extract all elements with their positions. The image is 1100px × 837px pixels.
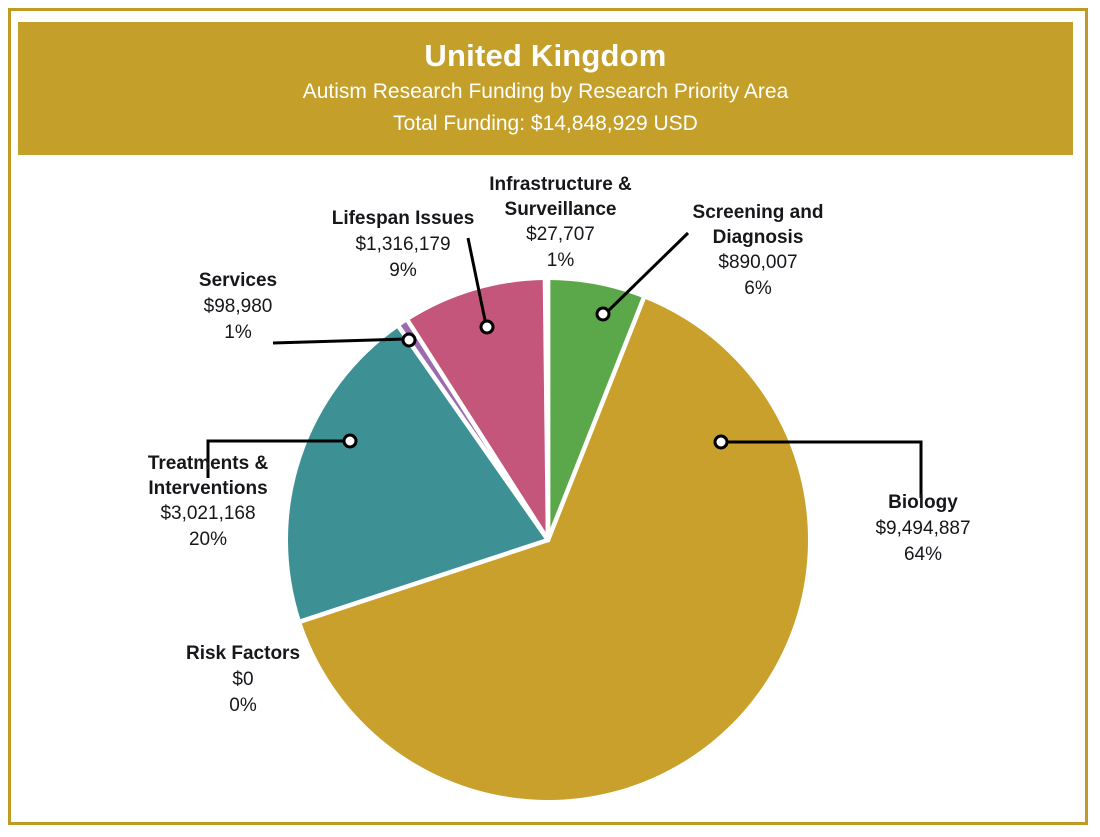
header-banner: United Kingdom Autism Research Funding b… (18, 22, 1073, 155)
label-biology: Biology $9,494,887 64% (828, 490, 1018, 568)
label-infrastructure-name-line1: Infrastructure & (458, 172, 663, 197)
label-risk-value: $0 (143, 667, 343, 693)
label-biology-name: Biology (828, 490, 1018, 516)
label-services-value: $98,980 (153, 294, 323, 320)
label-infrastructure-surveillance: Infrastructure & Surveillance $27,707 1% (458, 172, 663, 274)
label-biology-pct: 64% (828, 542, 1018, 568)
label-treatments-pct: 20% (108, 527, 308, 553)
anchor-dot-lifespan (481, 321, 493, 333)
anchor-dot-biology (715, 436, 727, 448)
label-treatments-name-line1: Treatments & (108, 451, 308, 476)
label-treatments-name-line2: Interventions (108, 476, 308, 501)
chart-page: United Kingdom Autism Research Funding b… (0, 0, 1100, 837)
label-infrastructure-name-line2: Surveillance (458, 197, 663, 222)
label-services-pct: 1% (153, 320, 323, 346)
label-risk-factors: Risk Factors $0 0% (143, 641, 343, 719)
label-biology-value: $9,494,887 (828, 516, 1018, 542)
label-treatments-value: $3,021,168 (108, 501, 308, 527)
label-screening-diagnosis: Screening and Diagnosis $890,007 6% (663, 200, 853, 302)
label-screening-value: $890,007 (663, 250, 853, 276)
total-funding-text: Total Funding: $14,848,929 USD (18, 108, 1073, 140)
pie-slices (288, 280, 808, 800)
label-treatments-interventions: Treatments & Interventions $3,021,168 20… (108, 451, 308, 553)
label-infrastructure-pct: 1% (458, 248, 663, 274)
anchor-dot-services (403, 334, 415, 346)
label-infrastructure-value: $27,707 (458, 222, 663, 248)
label-risk-pct: 0% (143, 693, 343, 719)
label-screening-name-line1: Screening and (663, 200, 853, 225)
page-subtitle: Autism Research Funding by Research Prio… (18, 76, 1073, 108)
label-risk-name: Risk Factors (143, 641, 343, 667)
anchor-dot-treatments (344, 435, 356, 447)
label-screening-pct: 6% (663, 276, 853, 302)
label-screening-name-line2: Diagnosis (663, 225, 853, 250)
page-title: United Kingdom (18, 36, 1073, 76)
pie-chart-area: Services $98,980 1% Lifespan Issues $1,3… (18, 158, 1073, 818)
anchor-dot-screening (597, 308, 609, 320)
